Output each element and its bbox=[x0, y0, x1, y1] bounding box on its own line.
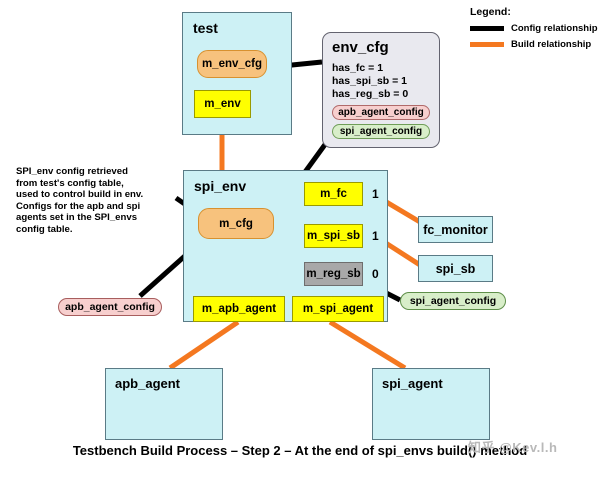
env_cfg-field-has_reg_sb: has_reg_sb = 0 bbox=[332, 88, 430, 101]
diagram-canvas: Legend: Config relationship Build relati… bbox=[0, 0, 600, 477]
legend: Legend: Config relationship Build relati… bbox=[470, 6, 598, 50]
member-m_apb_agent-label: m_apb_agent bbox=[202, 303, 276, 315]
member-m_spi_sb-label: m_spi_sb bbox=[307, 230, 360, 242]
env_cfg-field-has_spi_sb: has_spi_sb = 1 bbox=[332, 75, 430, 88]
member-m_fc-label: m_fc bbox=[320, 188, 347, 200]
legend-item-build: Build relationship bbox=[470, 39, 598, 50]
container-test-title: test bbox=[193, 20, 218, 36]
block-spi_sb-label: spi_sb bbox=[436, 262, 476, 276]
member-m_reg_sb-label: m_reg_sb bbox=[306, 268, 360, 280]
block-apb_agent-label: apb_agent bbox=[115, 376, 180, 391]
flag-m_fc: 1 bbox=[372, 187, 379, 201]
panel-env_cfg-title: env_cfg bbox=[332, 39, 430, 56]
legend-label-build: Build relationship bbox=[511, 39, 591, 50]
block-fc_monitor-label: fc_monitor bbox=[423, 223, 488, 237]
legend-swatch-build bbox=[470, 42, 504, 47]
legend-label-config: Config relationship bbox=[511, 23, 598, 34]
env_cfg-pill-spi_agent_config[interactable]: spi_agent_config bbox=[332, 124, 430, 139]
annotation-note: SPI_env config retrieved from test's con… bbox=[16, 166, 176, 236]
env_cfg-pill-apb_agent_config[interactable]: apb_agent_config bbox=[332, 105, 430, 120]
pill-spi_agent_config[interactable]: spi_agent_config bbox=[400, 292, 506, 310]
block-spi_sb[interactable]: spi_sb bbox=[418, 255, 493, 282]
build-line-m_apb_agent-to-apb_agent bbox=[170, 322, 238, 368]
member-m_spi_agent[interactable]: m_spi_agent bbox=[292, 296, 384, 322]
env_cfg-field-has_fc: has_fc = 1 bbox=[332, 62, 430, 75]
build-line-m_spi_agent-to-spi_agent bbox=[330, 322, 405, 368]
watermark: 知乎 @Kev.l.h bbox=[468, 437, 557, 456]
legend-item-config: Config relationship bbox=[470, 23, 598, 34]
member-m_fc[interactable]: m_fc bbox=[304, 182, 363, 206]
block-spi_agent-label: spi_agent bbox=[382, 376, 443, 391]
legend-title: Legend: bbox=[470, 6, 598, 18]
member-m_spi_agent-label: m_spi_agent bbox=[303, 303, 373, 315]
member-m_env[interactable]: m_env bbox=[194, 90, 251, 118]
container-spi_env-title: spi_env bbox=[194, 178, 246, 194]
pill-apb_agent_config[interactable]: apb_agent_config bbox=[58, 298, 162, 316]
member-m_reg_sb[interactable]: m_reg_sb bbox=[304, 262, 363, 286]
member-m_cfg-label: m_cfg bbox=[219, 218, 253, 230]
member-m_env_cfg-label: m_env_cfg bbox=[202, 58, 262, 70]
panel-env_cfg[interactable]: env_cfg has_fc = 1 has_spi_sb = 1 has_re… bbox=[322, 32, 440, 148]
block-apb_agent[interactable]: apb_agent bbox=[105, 368, 223, 440]
flag-m_spi_sb: 1 bbox=[372, 229, 379, 243]
legend-swatch-config bbox=[470, 26, 504, 31]
member-m_apb_agent[interactable]: m_apb_agent bbox=[193, 296, 285, 322]
member-m_spi_sb[interactable]: m_spi_sb bbox=[304, 224, 363, 248]
member-m_cfg[interactable]: m_cfg bbox=[198, 208, 274, 239]
member-m_env-label: m_env bbox=[204, 98, 240, 110]
member-m_env_cfg[interactable]: m_env_cfg bbox=[197, 50, 267, 78]
flag-m_reg_sb: 0 bbox=[372, 267, 379, 281]
block-fc_monitor[interactable]: fc_monitor bbox=[418, 216, 493, 243]
block-spi_agent[interactable]: spi_agent bbox=[372, 368, 490, 440]
